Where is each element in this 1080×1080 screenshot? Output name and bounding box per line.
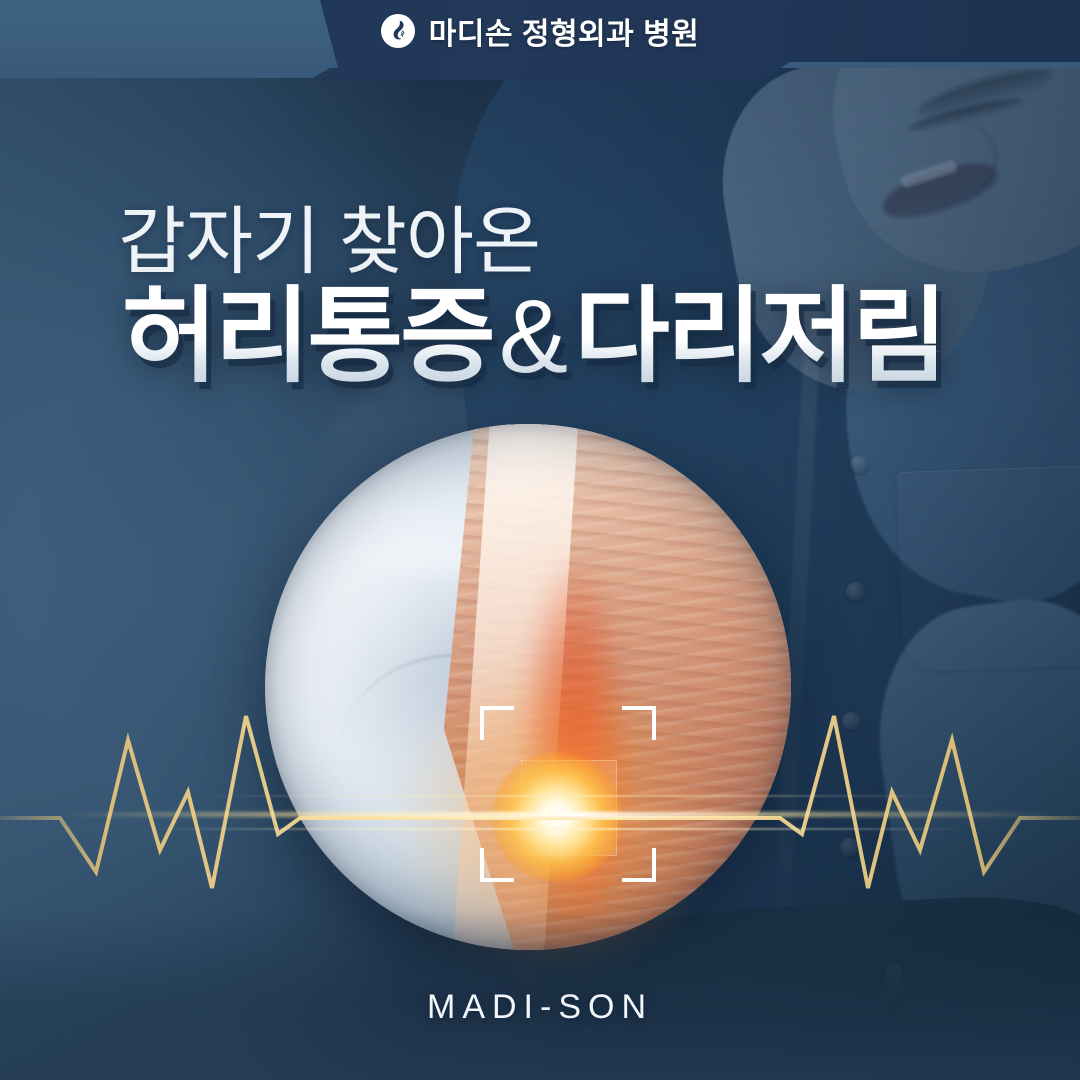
hero-kicker: 갑자기 찾아온 — [118, 182, 540, 289]
focus-corner-top-right-icon — [622, 706, 656, 740]
hero-headline: 허리통증&다리저림 — [122, 282, 945, 392]
header-bar: 마디손 정형외과 병원 — [0, 0, 1080, 62]
flame-leaf-logo-icon — [381, 14, 415, 48]
headline-part-right: 다리저림 — [574, 279, 945, 395]
poster-canvas: 갑자기 찾아온 허리통증&다리저림 MADI-SON 마디손 정형외과 병원 — [0, 0, 1080, 1080]
focus-frame — [480, 706, 656, 882]
focus-corner-top-left-icon — [480, 706, 514, 740]
headline-part-left: 허리통증 — [122, 279, 493, 395]
headline-ampersand: & — [493, 279, 574, 395]
header-title: 마디손 정형외과 병원 — [429, 9, 700, 53]
focus-corner-bottom-left-icon — [480, 848, 514, 882]
brand-wordmark: MADI-SON — [0, 988, 1080, 1027]
focus-corner-bottom-right-icon — [622, 848, 656, 882]
